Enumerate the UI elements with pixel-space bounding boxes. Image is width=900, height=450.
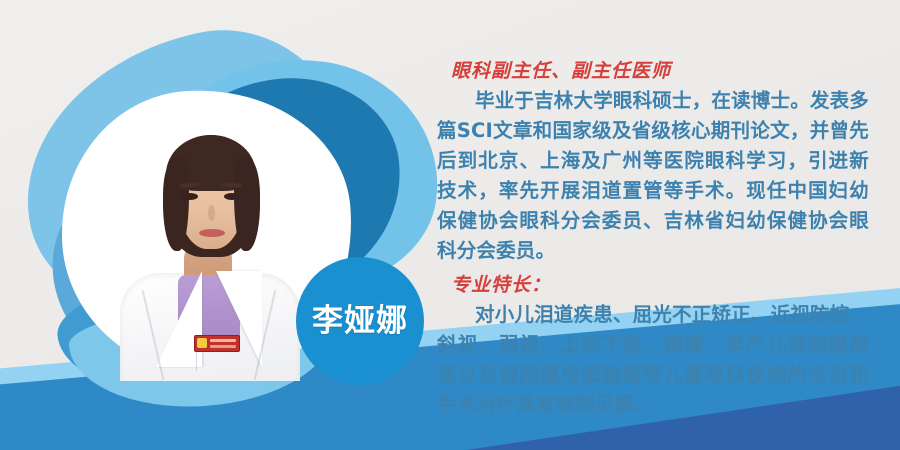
doctor-photo bbox=[116, 113, 302, 381]
badge-emblem-icon bbox=[197, 338, 207, 348]
heading-title: 眼科副主任、副主任医师 bbox=[451, 56, 869, 86]
eye-right bbox=[224, 193, 240, 200]
eye-left bbox=[182, 193, 198, 200]
nose bbox=[208, 205, 215, 221]
coat-lapel-right bbox=[216, 271, 262, 367]
portrait-cluster: 李娅娜 bbox=[18, 18, 418, 418]
doctor-name: 李娅娜 bbox=[312, 306, 408, 337]
party-badge-icon bbox=[194, 335, 240, 352]
coat-button-thread bbox=[196, 351, 197, 371]
doctor-profile-card: 李娅娜 眼科副主任、副主任医师 毕业于吉林大学眼科硕士，在读博士。发表多篇SCI… bbox=[0, 0, 900, 450]
badge-text-lines bbox=[210, 339, 236, 342]
hair-side-right bbox=[234, 157, 260, 251]
bio-paragraph: 毕业于吉林大学眼科硕士，在读博士。发表多篇SCI文章和国家级及省级核心期刊论文，… bbox=[437, 86, 869, 266]
profile-text-column: 眼科副主任、副主任医师 毕业于吉林大学眼科硕士，在读博士。发表多篇SCI文章和国… bbox=[437, 56, 869, 420]
name-badge: 李娅娜 bbox=[296, 257, 424, 385]
mouth bbox=[199, 229, 225, 237]
specialty-paragraph: 对小儿泪道疾患、屈光不正矫正、近视防控、斜视、弱视、上睑下垂、倒睫、早产儿视网膜… bbox=[437, 300, 869, 420]
hair-side-left bbox=[163, 157, 189, 251]
heading-specialty: 专业特长： bbox=[451, 270, 869, 300]
